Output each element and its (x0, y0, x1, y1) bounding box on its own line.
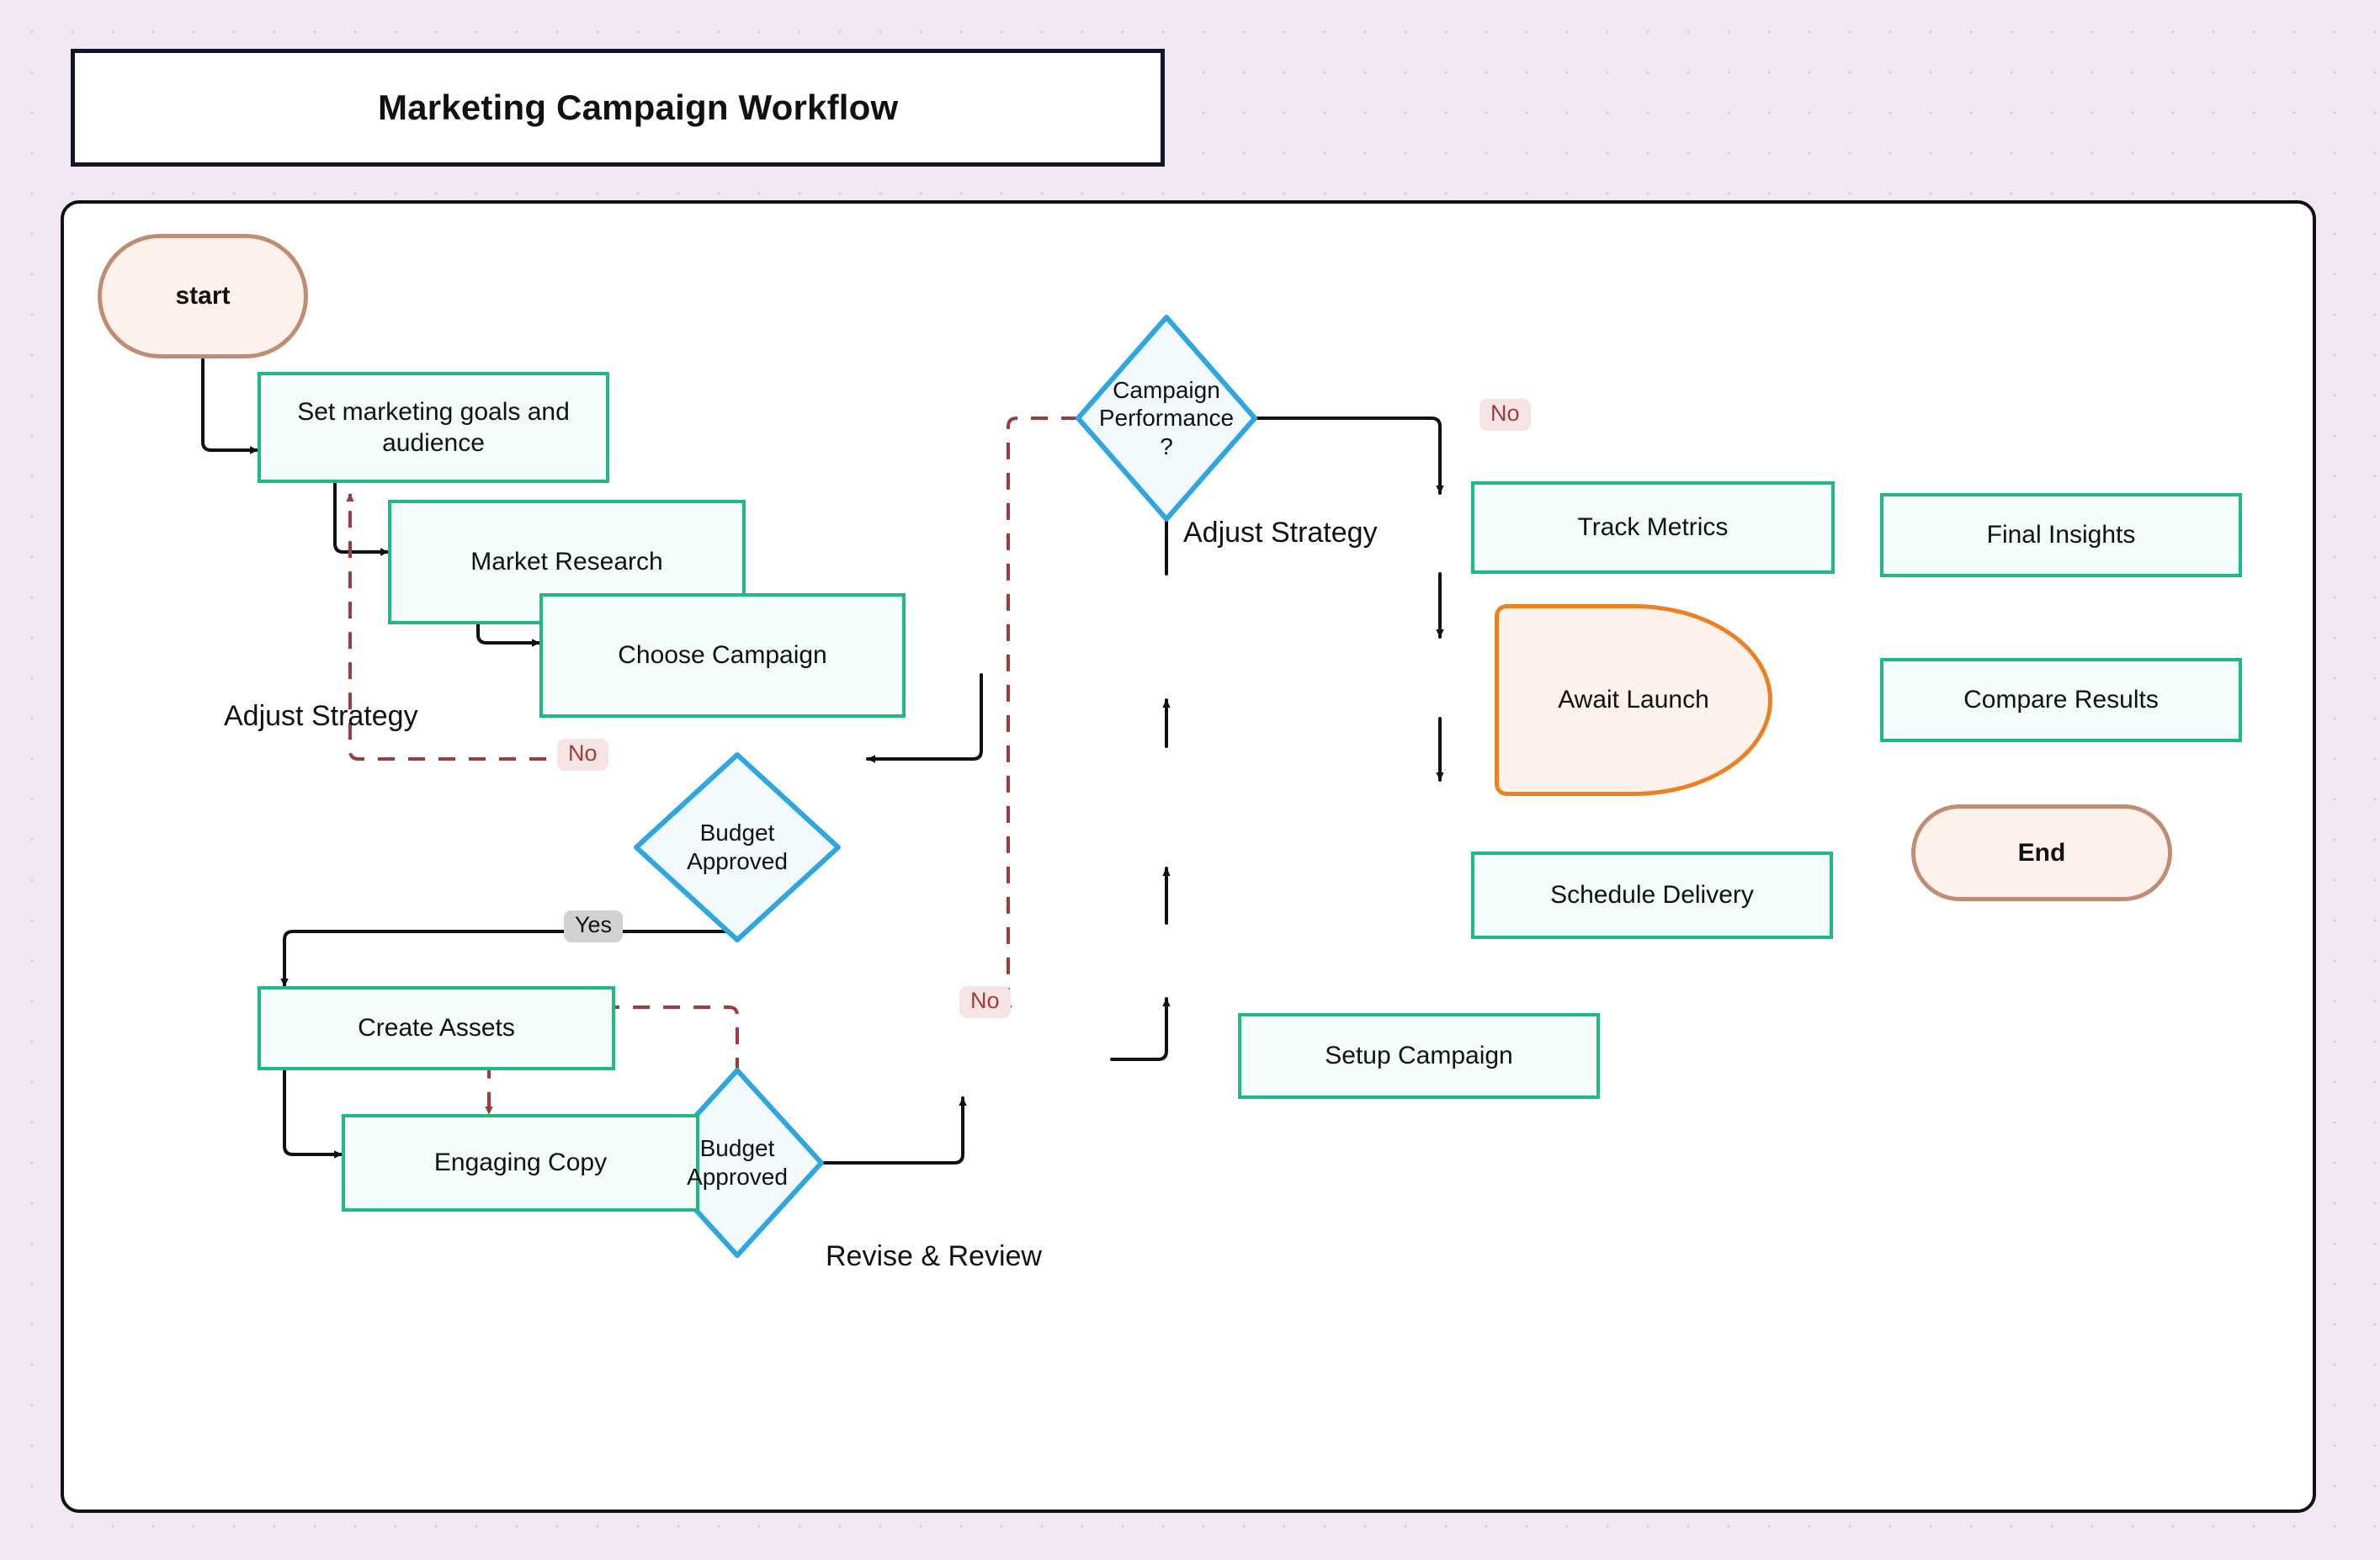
node-track-metrics-label: Track Metrics (1578, 512, 1729, 544)
node-setup-campaign-label: Setup Campaign (1325, 1040, 1512, 1072)
node-start-label: start (175, 280, 230, 312)
edge-setup-campaign-to-schedule-delivery (1112, 999, 1166, 1059)
edge-start-to-set-goals (203, 359, 258, 450)
edge-label-no-budget-1: No (557, 739, 608, 771)
diagram-canvas: Marketing Campaign Workflow (0, 0, 2380, 1560)
node-compare-results-label: Compare Results (1963, 684, 2159, 716)
edge-label-yes-budget-1: Yes (564, 910, 623, 942)
node-compare-results[interactable]: Compare Results (1880, 658, 2242, 742)
annotation-adjust-strategy-left: Adjust Strategy (224, 700, 418, 733)
node-budget-approved-1[interactable]: Budget Approved (636, 755, 838, 940)
node-budget-approved-1-label: Budget Approved (687, 819, 788, 875)
node-start[interactable]: start (98, 234, 308, 358)
node-campaign-performance-label: Campaign Performance ? (1099, 376, 1234, 461)
node-set-goals[interactable]: Set marketing goals and audience (258, 372, 609, 483)
title-banner: Marketing Campaign Workflow (71, 49, 1165, 167)
node-schedule-delivery[interactable]: Schedule Delivery (1471, 852, 1833, 939)
node-final-insights[interactable]: Final Insights (1880, 493, 2242, 577)
node-engaging-copy-label: Engaging Copy (434, 1147, 607, 1179)
node-market-research-label: Market Research (470, 546, 662, 578)
node-setup-campaign[interactable]: Setup Campaign (1238, 1013, 1600, 1099)
node-track-metrics[interactable]: Track Metrics (1471, 481, 1835, 574)
flowchart-panel: start Set marketing goals and audience M… (61, 200, 2316, 1513)
node-engaging-copy[interactable]: Engaging Copy (342, 1114, 699, 1212)
annotation-revise-review: Revise & Review (826, 1240, 1042, 1273)
node-create-assets[interactable]: Create Assets (258, 986, 615, 1070)
edge-create-assets-to-engaging-copy (284, 1070, 342, 1154)
edge-budget-2-to-setup-campaign (821, 1098, 963, 1163)
node-choose-campaign-label: Choose Campaign (618, 639, 826, 671)
node-create-assets-label: Create Assets (358, 1012, 515, 1044)
edge-campaign-perf-to-final-insights (1255, 418, 1440, 493)
page-title: Marketing Campaign Workflow (378, 88, 898, 128)
edge-campaign-perf-no-to-setup-campaign (1008, 418, 1078, 1013)
node-budget-approved-2[interactable]: Budget Approved (653, 1070, 821, 1255)
node-campaign-performance[interactable]: Campaign Performance ? (1078, 317, 1255, 519)
node-set-goals-label: Set marketing goals and audience (282, 396, 585, 459)
node-budget-approved-2-label: Budget Approved (687, 1134, 788, 1191)
node-schedule-delivery-label: Schedule Delivery (1550, 879, 1754, 911)
node-end[interactable]: End (1911, 804, 2172, 901)
node-await-launch-label: Await Launch (1558, 684, 1709, 716)
edge-label-no-budget-2: No (959, 986, 1011, 1018)
node-end-label: End (2018, 837, 2066, 869)
node-await-launch[interactable]: Await Launch (1495, 604, 1772, 796)
node-final-insights-label: Final Insights (1987, 519, 2136, 551)
annotation-adjust-strategy-right: Adjust Strategy (1183, 517, 1378, 549)
edge-label-no-campaign-perf: No (1480, 399, 1531, 431)
edge-set-goals-to-market-research (335, 483, 388, 552)
node-choose-campaign[interactable]: Choose Campaign (539, 593, 906, 718)
